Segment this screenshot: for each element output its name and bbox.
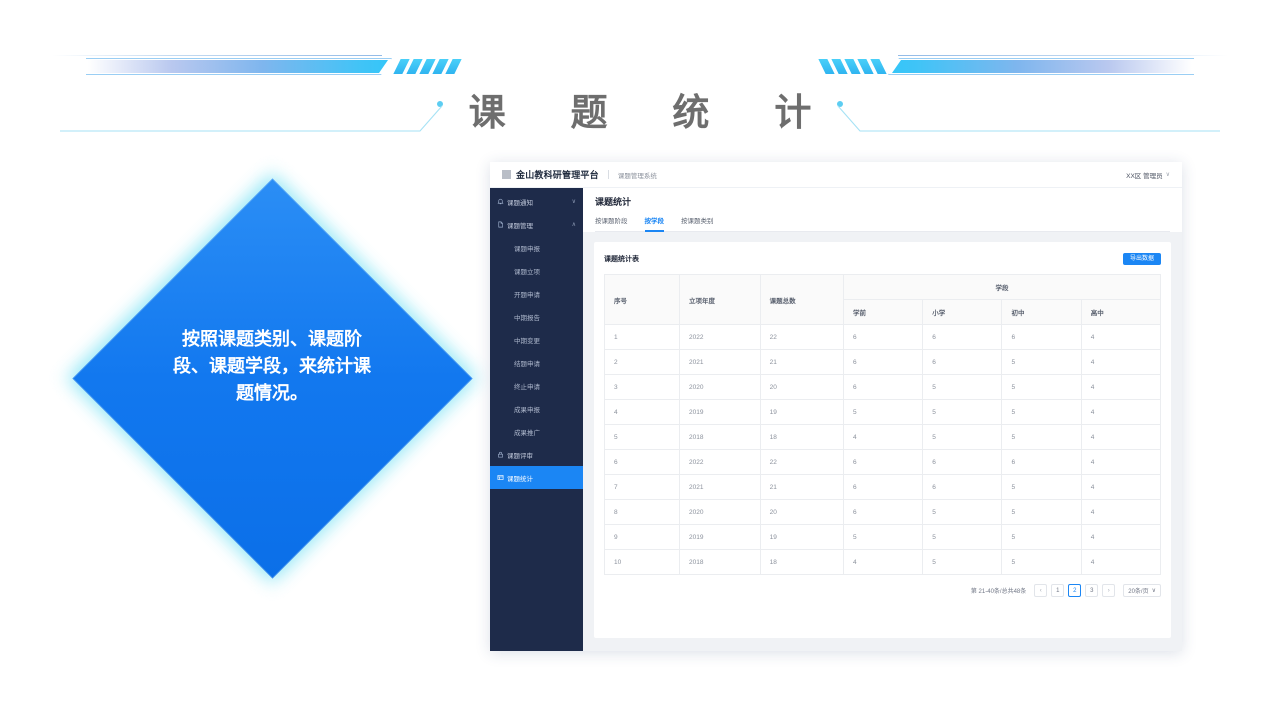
pagination-summary: 第 21-40条/总共48条 — [971, 586, 1026, 595]
col-total: 课题总数 — [760, 275, 843, 325]
cell-senior: 4 — [1081, 325, 1160, 350]
cell-preschool: 6 — [844, 375, 923, 400]
cell-index: 10 — [605, 550, 680, 575]
sidebar-item-label: 课题管理 — [507, 220, 533, 230]
cell-total: 21 — [760, 475, 843, 500]
table-row: 8 2020 20 6 5 5 4 — [605, 500, 1161, 525]
pagination-page-2[interactable]: 2 — [1068, 584, 1081, 597]
pagination: 第 21-40条/总共48条 ‹ 1 2 3 › 20条/页 ∨ — [604, 584, 1161, 597]
header-slashes-right — [822, 59, 883, 74]
cell-preschool: 6 — [844, 350, 923, 375]
cell-year: 2020 — [680, 500, 761, 525]
chevron-up-icon: ∧ — [572, 221, 576, 228]
cell-preschool: 6 — [844, 325, 923, 350]
pagination-next-button[interactable]: › — [1102, 584, 1115, 597]
cell-total: 22 — [760, 325, 843, 350]
cell-preschool: 4 — [844, 550, 923, 575]
sidebar-item-label: 课题申报 — [514, 243, 540, 253]
export-data-button[interactable]: 导出数据 — [1123, 253, 1161, 265]
sidebar-item-label: 课题通知 — [507, 197, 533, 207]
cell-year: 2020 — [680, 375, 761, 400]
bell-icon — [497, 198, 506, 205]
cell-junior: 5 — [1002, 500, 1081, 525]
cell-senior: 4 — [1081, 450, 1160, 475]
cell-preschool: 5 — [844, 525, 923, 550]
sidebar-item-ketiguanli[interactable]: 课题管理 ∧ — [490, 213, 583, 236]
sidebar-item-ketitongji[interactable]: 课题统计 — [490, 466, 583, 489]
cell-index: 6 — [605, 450, 680, 475]
sidebar-item-jietishenqing[interactable]: 结题申请 — [490, 351, 583, 374]
cell-total: 18 — [760, 425, 843, 450]
sidebar-item-label: 成果推广 — [514, 427, 540, 437]
statistics-table: 序号 立项年度 课题总数 学段 学前 小学 初中 高中 — [604, 274, 1161, 575]
app-body: 课题通知 ∨ 课题管理 ∧ 课题申报 课题立项 — [490, 188, 1182, 651]
sidebar-item-ketitongzhi[interactable]: 课题通知 ∨ — [490, 190, 583, 213]
col-group-level: 学段 — [844, 275, 1161, 300]
cell-index: 9 — [605, 525, 680, 550]
chevron-down-icon: ∨ — [1166, 171, 1170, 178]
sidebar-item-chengguotuiguang[interactable]: 成果推广 — [490, 420, 583, 443]
cell-senior: 4 — [1081, 400, 1160, 425]
header-gradient-bar-left — [88, 60, 388, 73]
sidebar-item-ketipingshen[interactable]: 课题评审 — [490, 443, 583, 466]
page-size-label: 20条/页 — [1128, 586, 1148, 595]
col-preschool: 学前 — [844, 300, 923, 325]
cell-preschool: 4 — [844, 425, 923, 450]
cell-junior: 5 — [1002, 475, 1081, 500]
cell-total: 20 — [760, 375, 843, 400]
cell-junior: 5 — [1002, 525, 1081, 550]
cell-senior: 4 — [1081, 350, 1160, 375]
system-name: 课题管理系统 — [618, 170, 657, 180]
sidebar-item-kaitishenqing[interactable]: 开题申请 — [490, 282, 583, 305]
sidebar-item-label: 课题评审 — [507, 450, 533, 460]
cell-primary: 5 — [923, 525, 1002, 550]
doc-icon — [497, 221, 506, 228]
table-row: 3 2020 20 6 5 5 4 — [605, 375, 1161, 400]
cell-total: 20 — [760, 500, 843, 525]
sidebar-item-label: 中期变更 — [514, 335, 540, 345]
brand-divider — [608, 170, 609, 179]
sidebar-item-label: 开题申请 — [514, 289, 540, 299]
table-body: 1 2022 22 6 6 6 4 2 2021 2 — [605, 325, 1161, 575]
cell-junior: 5 — [1002, 400, 1081, 425]
cell-total: 18 — [760, 550, 843, 575]
cell-junior: 6 — [1002, 450, 1081, 475]
sidebar-item-zhongqibiangeng[interactable]: 中期变更 — [490, 328, 583, 351]
cell-preschool: 6 — [844, 500, 923, 525]
sidebar-item-label: 课题统计 — [507, 473, 533, 483]
cell-senior: 4 — [1081, 500, 1160, 525]
cell-senior: 4 — [1081, 375, 1160, 400]
tab-by-category[interactable]: 按课题类别 — [681, 215, 714, 232]
cell-primary: 5 — [923, 500, 1002, 525]
table-head: 序号 立项年度 课题总数 学段 学前 小学 初中 高中 — [605, 275, 1161, 325]
chevron-down-icon: ∨ — [572, 198, 576, 205]
cell-index: 5 — [605, 425, 680, 450]
card-title: 课题统计表 — [604, 254, 639, 264]
cell-total: 22 — [760, 450, 843, 475]
sidebar-item-chengguoshenbao[interactable]: 成果申报 — [490, 397, 583, 420]
cell-year: 2022 — [680, 450, 761, 475]
col-year: 立项年度 — [680, 275, 761, 325]
cell-index: 8 — [605, 500, 680, 525]
sidebar-item-label: 课题立项 — [514, 266, 540, 276]
sidebar: 课题通知 ∨ 课题管理 ∧ 课题申报 课题立项 — [490, 188, 583, 651]
tab-by-stage[interactable]: 按课题阶段 — [595, 215, 628, 232]
chevron-down-icon: ∨ — [1152, 587, 1156, 594]
tab-bar: 按课题阶段 按学段 按课题类别 — [595, 215, 1170, 232]
sidebar-item-label: 结题申请 — [514, 358, 540, 368]
page-title: 课 题 统 计 — [0, 82, 1280, 136]
sidebar-item-label: 成果申报 — [514, 404, 540, 414]
card-header: 课题统计表 导出数据 — [604, 251, 1161, 267]
table-header-row-1: 序号 立项年度 课题总数 学段 — [605, 275, 1161, 300]
cell-primary: 6 — [923, 475, 1002, 500]
user-menu[interactable]: XX区 管理员 ∨ — [1126, 170, 1170, 180]
cell-junior: 5 — [1002, 550, 1081, 575]
slide-root: 课 题 统 计 按照课题类别、课题阶段、课题学段，来统计课题情况。 金山教科研管… — [0, 0, 1280, 720]
sidebar-item-label: 终止申请 — [514, 381, 540, 391]
cell-senior: 4 — [1081, 550, 1160, 575]
cell-total: 19 — [760, 525, 843, 550]
cell-junior: 6 — [1002, 325, 1081, 350]
cell-junior: 5 — [1002, 425, 1081, 450]
header-slashes-left — [397, 59, 458, 74]
cell-year: 2019 — [680, 400, 761, 425]
table-row: 1 2022 22 6 6 6 4 — [605, 325, 1161, 350]
diamond-callout-text: 按照课题类别、课题阶段、课题学段，来统计课题情况。 — [167, 326, 377, 407]
table-row: 4 2019 19 5 5 5 4 — [605, 400, 1161, 425]
col-senior: 高中 — [1081, 300, 1160, 325]
table-row: 7 2021 21 6 6 5 4 — [605, 475, 1161, 500]
slide-header-decoration: 课 题 统 计 — [0, 38, 1280, 118]
table-row: 9 2019 19 5 5 5 4 — [605, 525, 1161, 550]
pagination-prev-button[interactable]: ‹ — [1034, 584, 1047, 597]
cell-index: 1 — [605, 325, 680, 350]
content-page-title: 课题统计 — [595, 195, 1170, 208]
cell-primary: 6 — [923, 350, 1002, 375]
brand-name: 金山教科研管理平台 — [516, 168, 599, 181]
cell-year: 2018 — [680, 550, 761, 575]
cell-junior: 5 — [1002, 375, 1081, 400]
cell-year: 2018 — [680, 425, 761, 450]
cell-primary: 6 — [923, 325, 1002, 350]
cell-senior: 4 — [1081, 525, 1160, 550]
sidebar-item-zhongqibaogao[interactable]: 中期报告 — [490, 305, 583, 328]
sidebar-item-label: 中期报告 — [514, 312, 540, 322]
cell-index: 7 — [605, 475, 680, 500]
diamond-callout: 按照课题类别、课题阶段、课题学段，来统计课题情况。 — [62, 168, 482, 588]
cell-senior: 4 — [1081, 425, 1160, 450]
table-row: 2 2021 21 6 6 5 4 — [605, 350, 1161, 375]
cell-primary: 6 — [923, 450, 1002, 475]
table-row: 6 2022 22 6 6 6 4 — [605, 450, 1161, 475]
cell-index: 3 — [605, 375, 680, 400]
cell-primary: 5 — [923, 375, 1002, 400]
page-size-select[interactable]: 20条/页 ∨ — [1123, 584, 1161, 597]
cell-year: 2021 — [680, 475, 761, 500]
table-row: 5 2018 18 4 5 5 4 — [605, 425, 1161, 450]
cell-index: 2 — [605, 350, 680, 375]
app-topbar: 金山教科研管理平台 课题管理系统 XX区 管理员 ∨ — [490, 162, 1182, 188]
cell-year: 2022 — [680, 325, 761, 350]
content-area: 课题统计 按课题阶段 按学段 按课题类别 课题统计表 导出数据 — [583, 188, 1182, 651]
app-window: 金山教科研管理平台 课题管理系统 XX区 管理员 ∨ 课题通知 ∨ — [490, 162, 1182, 651]
col-junior: 初中 — [1002, 300, 1081, 325]
cell-preschool: 6 — [844, 450, 923, 475]
cell-total: 19 — [760, 400, 843, 425]
cell-year: 2019 — [680, 525, 761, 550]
header-hairline-right — [898, 55, 1228, 56]
cell-senior: 4 — [1081, 475, 1160, 500]
cell-primary: 5 — [923, 425, 1002, 450]
statistics-card: 课题统计表 导出数据 序号 立项年度 课题总数 — [594, 242, 1171, 638]
col-index: 序号 — [605, 275, 680, 325]
cell-preschool: 6 — [844, 475, 923, 500]
page-header: 课题统计 按课题阶段 按学段 按课题类别 — [583, 188, 1182, 232]
pagination-page-3[interactable]: 3 — [1085, 584, 1098, 597]
user-name-label: XX区 管理员 — [1126, 170, 1162, 180]
header-hairline-left — [52, 55, 382, 56]
pagination-page-1[interactable]: 1 — [1051, 584, 1064, 597]
cell-primary: 5 — [923, 400, 1002, 425]
sidebar-item-zhongzhishenqing[interactable]: 终止申请 — [490, 374, 583, 397]
cell-primary: 5 — [923, 550, 1002, 575]
table-row: 10 2018 18 4 5 5 4 — [605, 550, 1161, 575]
header-gradient-bar-right — [892, 60, 1192, 73]
logo-icon — [502, 170, 511, 179]
sidebar-item-ketishenbao[interactable]: 课题申报 — [490, 236, 583, 259]
cell-index: 4 — [605, 400, 680, 425]
sidebar-item-ketilixiang[interactable]: 课题立项 — [490, 259, 583, 282]
tab-by-level[interactable]: 按学段 — [645, 215, 665, 232]
cell-junior: 5 — [1002, 350, 1081, 375]
cell-preschool: 5 — [844, 400, 923, 425]
col-primary: 小学 — [923, 300, 1002, 325]
cell-total: 21 — [760, 350, 843, 375]
cell-year: 2021 — [680, 350, 761, 375]
lock-icon — [497, 451, 506, 458]
chart-icon — [497, 474, 506, 481]
